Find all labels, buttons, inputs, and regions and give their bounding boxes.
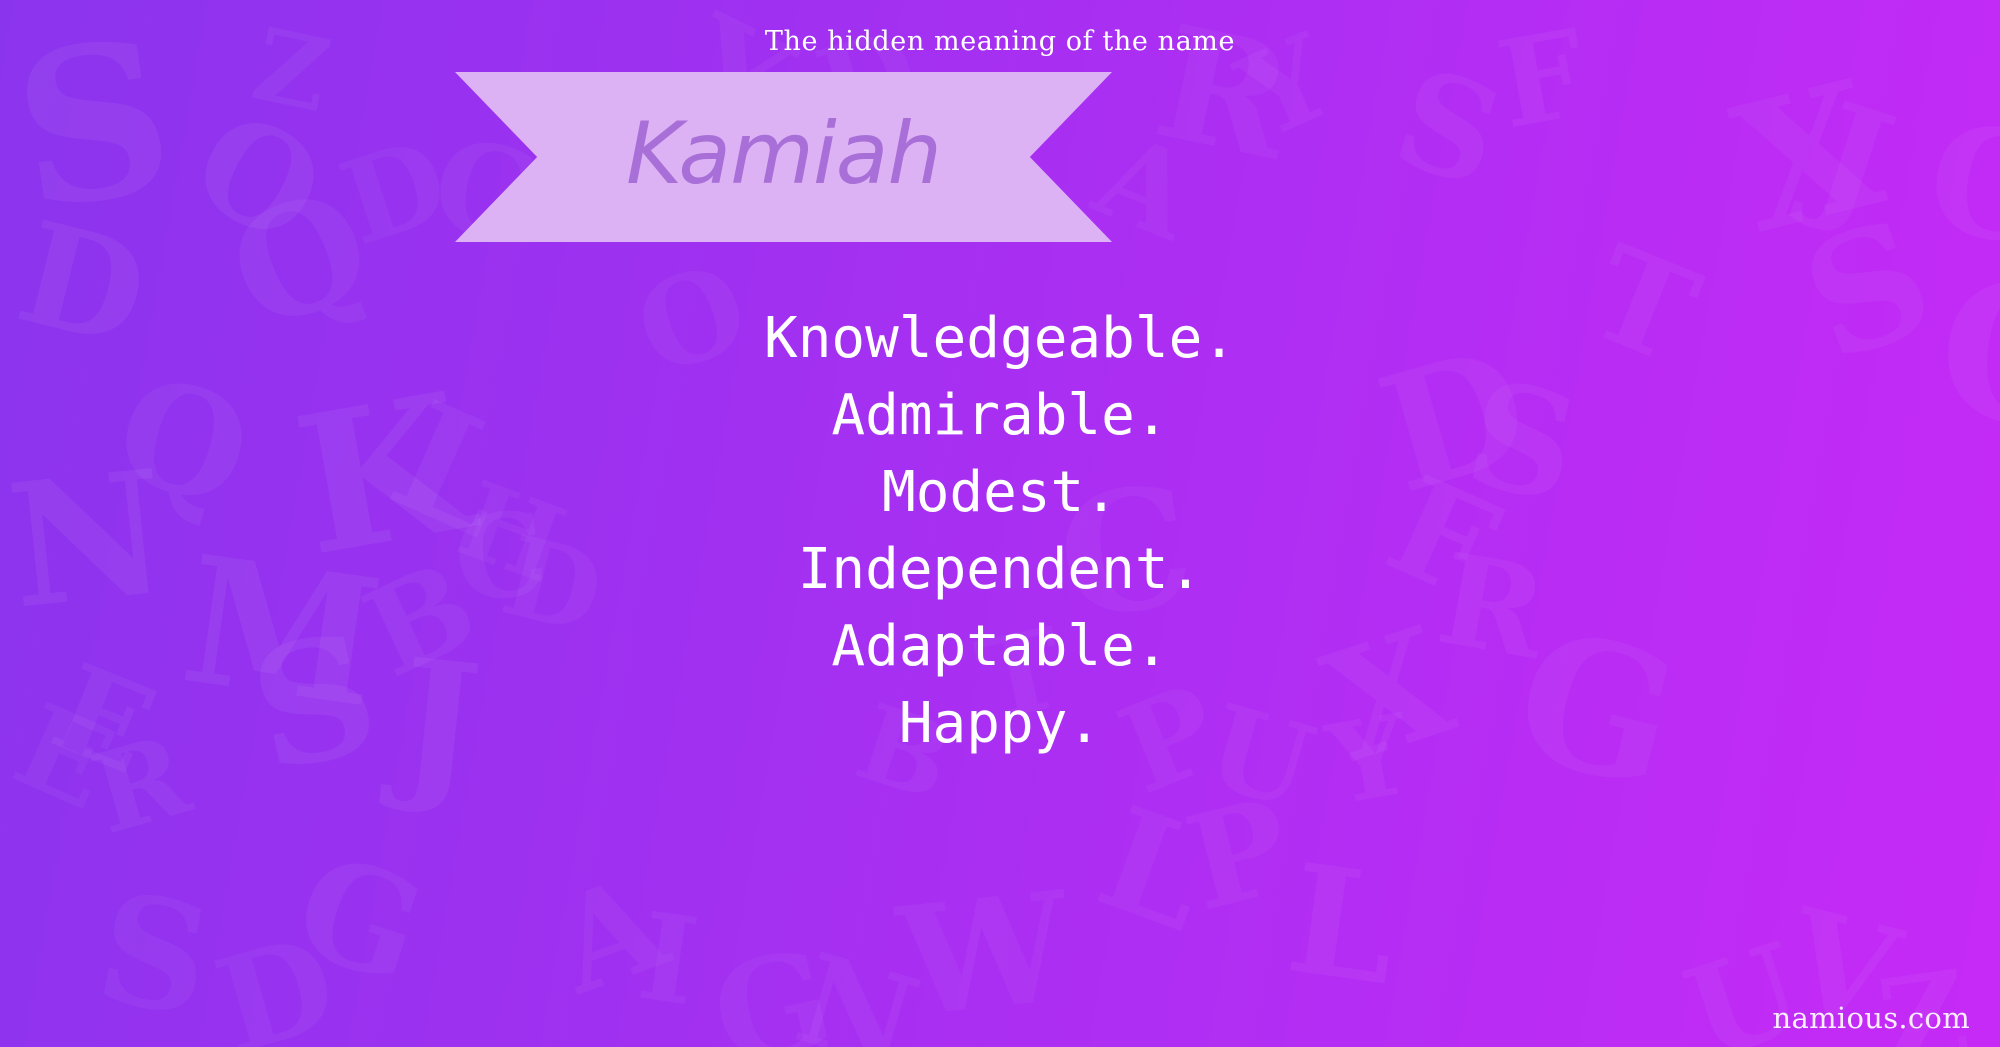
watermark-letter: N [785, 937, 929, 1047]
trait-line: Modest. [0, 454, 2000, 531]
watermark-letter: D [204, 917, 348, 1047]
trait-line: Knowledgeable. [0, 300, 2000, 377]
watermark-letter: S [88, 872, 221, 1039]
name-text: Kamiah [455, 72, 1112, 242]
site-watermark: namious.com [1773, 1001, 1970, 1035]
watermark-letter: I [632, 897, 704, 1024]
trait-line: Adaptable. [0, 608, 2000, 685]
watermark-letter: C [1920, 102, 2000, 267]
name-ribbon-banner: Kamiah [455, 72, 1112, 242]
watermark-letter: G [281, 835, 438, 1005]
watermark-letter: P [1176, 780, 1302, 930]
watermark-letter: L [1280, 843, 1405, 1006]
trait-line: Independent. [0, 531, 2000, 608]
watermark-letter: L [1084, 787, 1224, 952]
trait-line: Admirable. [0, 377, 2000, 454]
watermark-letter: S [1382, 48, 1516, 207]
watermark-letter: G [702, 929, 843, 1047]
watermark-letter: O [175, 90, 342, 264]
watermark-letter: W [893, 872, 1076, 1039]
watermark-letter: J [1800, 83, 1906, 237]
watermark-letter: D [330, 122, 460, 262]
page-title: The hidden meaning of the name [0, 26, 2000, 57]
watermark-letter: A [541, 857, 680, 1014]
watermark-letter: X [1721, 56, 1895, 259]
trait-list: Knowledgeable.Admirable.Modest.Independe… [0, 300, 2000, 762]
trait-line: Happy. [0, 685, 2000, 762]
name-meaning-graphic: SDNEROQZMSGBJQKLDCLHCDAIGNWYDRYSFTXCJSCD… [0, 0, 2000, 1047]
